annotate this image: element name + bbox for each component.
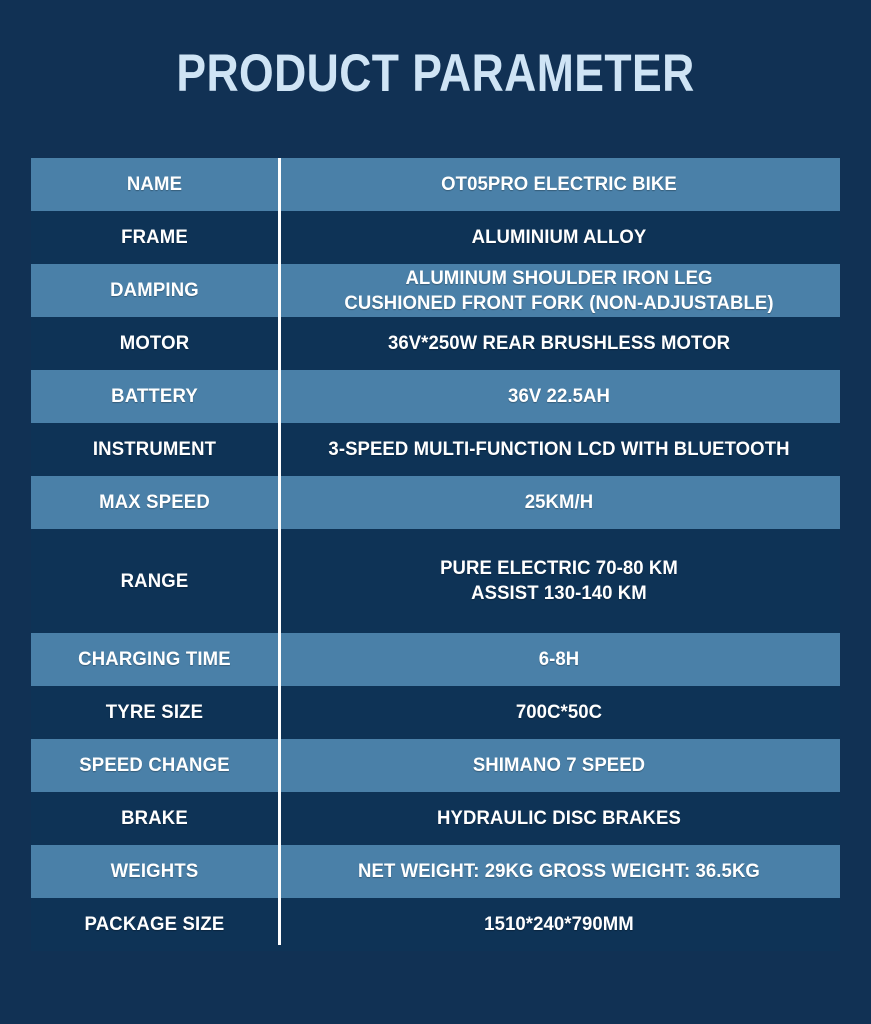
table-row: NAMEOT05PRO ELECTRIC BIKE bbox=[31, 158, 840, 211]
parameter-value: 3-SPEED MULTI-FUNCTION LCD WITH BLUETOOT… bbox=[292, 423, 826, 476]
parameter-value-line: ASSIST 130-140 KM bbox=[440, 581, 678, 606]
table-row: SPEED CHANGESHIMANO 7 SPEED bbox=[31, 739, 840, 792]
parameter-label: FRAME bbox=[37, 211, 272, 264]
parameter-value-line: 25KM/H bbox=[525, 490, 594, 515]
parameter-value: HYDRAULIC DISC BRAKES bbox=[292, 792, 826, 845]
page-title: PRODUCT PARAMETER bbox=[70, 44, 802, 104]
parameter-value-line: NET WEIGHT: 29KG GROSS WEIGHT: 36.5KG bbox=[358, 859, 760, 884]
parameter-value: 36V*250W REAR BRUSHLESS MOTOR bbox=[292, 317, 826, 370]
parameter-value-line: ALUMINUM SHOULDER IRON LEG bbox=[344, 266, 773, 291]
parameter-value: OT05PRO ELECTRIC BIKE bbox=[292, 158, 826, 211]
column-divider bbox=[278, 158, 281, 945]
parameter-label: MOTOR bbox=[37, 317, 272, 370]
table-row: FRAMEALUMINIUM ALLOY bbox=[31, 211, 840, 264]
parameter-label: CHARGING TIME bbox=[37, 633, 272, 686]
parameter-value: 700C*50C bbox=[292, 686, 826, 739]
parameter-value-line: CUSHIONED FRONT FORK (NON-ADJUSTABLE) bbox=[344, 291, 773, 316]
parameter-value-line: ALUMINIUM ALLOY bbox=[472, 225, 647, 250]
parameter-table: NAMEOT05PRO ELECTRIC BIKEFRAMEALUMINIUM … bbox=[31, 158, 840, 951]
parameter-label: BRAKE bbox=[37, 792, 272, 845]
parameter-label: SPEED CHANGE bbox=[37, 739, 272, 792]
parameter-value: NET WEIGHT: 29KG GROSS WEIGHT: 36.5KG bbox=[292, 845, 826, 898]
parameter-label: WEIGHTS bbox=[37, 845, 272, 898]
parameter-value: 6-8H bbox=[292, 633, 826, 686]
parameter-label: BATTERY bbox=[37, 370, 272, 423]
table-row: BRAKEHYDRAULIC DISC BRAKES bbox=[31, 792, 840, 845]
parameter-value-line: 3-SPEED MULTI-FUNCTION LCD WITH BLUETOOT… bbox=[328, 437, 789, 462]
parameter-label: NAME bbox=[37, 158, 272, 211]
parameter-value-line: 36V 22.5AH bbox=[508, 384, 610, 409]
parameter-value: ALUMINUM SHOULDER IRON LEGCUSHIONED FRON… bbox=[292, 264, 826, 317]
parameter-value-line: 36V*250W REAR BRUSHLESS MOTOR bbox=[388, 331, 730, 356]
table-row: CHARGING TIME6-8H bbox=[31, 633, 840, 686]
table-row: MAX SPEED25KM/H bbox=[31, 476, 840, 529]
parameter-value-line: OT05PRO ELECTRIC BIKE bbox=[441, 172, 677, 197]
table-row: BATTERY36V 22.5AH bbox=[31, 370, 840, 423]
table-row: MOTOR36V*250W REAR BRUSHLESS MOTOR bbox=[31, 317, 840, 370]
table-row: PACKAGE SIZE1510*240*790MM bbox=[31, 898, 840, 951]
parameter-value: SHIMANO 7 SPEED bbox=[292, 739, 826, 792]
parameter-value-line: SHIMANO 7 SPEED bbox=[473, 753, 645, 778]
parameter-label: INSTRUMENT bbox=[37, 423, 272, 476]
parameter-value-line: 1510*240*790MM bbox=[484, 912, 634, 937]
table-row: INSTRUMENT3-SPEED MULTI-FUNCTION LCD WIT… bbox=[31, 423, 840, 476]
parameter-value: PURE ELECTRIC 70-80 KMASSIST 130-140 KM bbox=[292, 529, 826, 633]
parameter-label: RANGE bbox=[37, 529, 272, 633]
parameter-value-line: 700C*50C bbox=[516, 700, 602, 725]
parameter-label: DAMPING bbox=[37, 264, 272, 317]
table-row: WEIGHTSNET WEIGHT: 29KG GROSS WEIGHT: 36… bbox=[31, 845, 840, 898]
parameter-label: TYRE SIZE bbox=[37, 686, 272, 739]
parameter-value-line: HYDRAULIC DISC BRAKES bbox=[437, 806, 681, 831]
table-row: RANGEPURE ELECTRIC 70-80 KMASSIST 130-14… bbox=[31, 529, 840, 633]
parameter-label: MAX SPEED bbox=[37, 476, 272, 529]
parameter-value: 1510*240*790MM bbox=[292, 898, 826, 951]
parameter-value-line: 6-8H bbox=[539, 647, 580, 672]
parameter-value: 25KM/H bbox=[292, 476, 826, 529]
table-row: DAMPINGALUMINUM SHOULDER IRON LEGCUSHION… bbox=[31, 264, 840, 317]
parameter-label: PACKAGE SIZE bbox=[37, 898, 272, 951]
product-parameter-page: PRODUCT PARAMETER NAMEOT05PRO ELECTRIC B… bbox=[0, 0, 871, 1024]
table-body: NAMEOT05PRO ELECTRIC BIKEFRAMEALUMINIUM … bbox=[31, 158, 840, 951]
parameter-value: 36V 22.5AH bbox=[292, 370, 826, 423]
parameter-value-line: PURE ELECTRIC 70-80 KM bbox=[440, 556, 678, 581]
table-row: TYRE SIZE700C*50C bbox=[31, 686, 840, 739]
parameter-value: ALUMINIUM ALLOY bbox=[292, 211, 826, 264]
